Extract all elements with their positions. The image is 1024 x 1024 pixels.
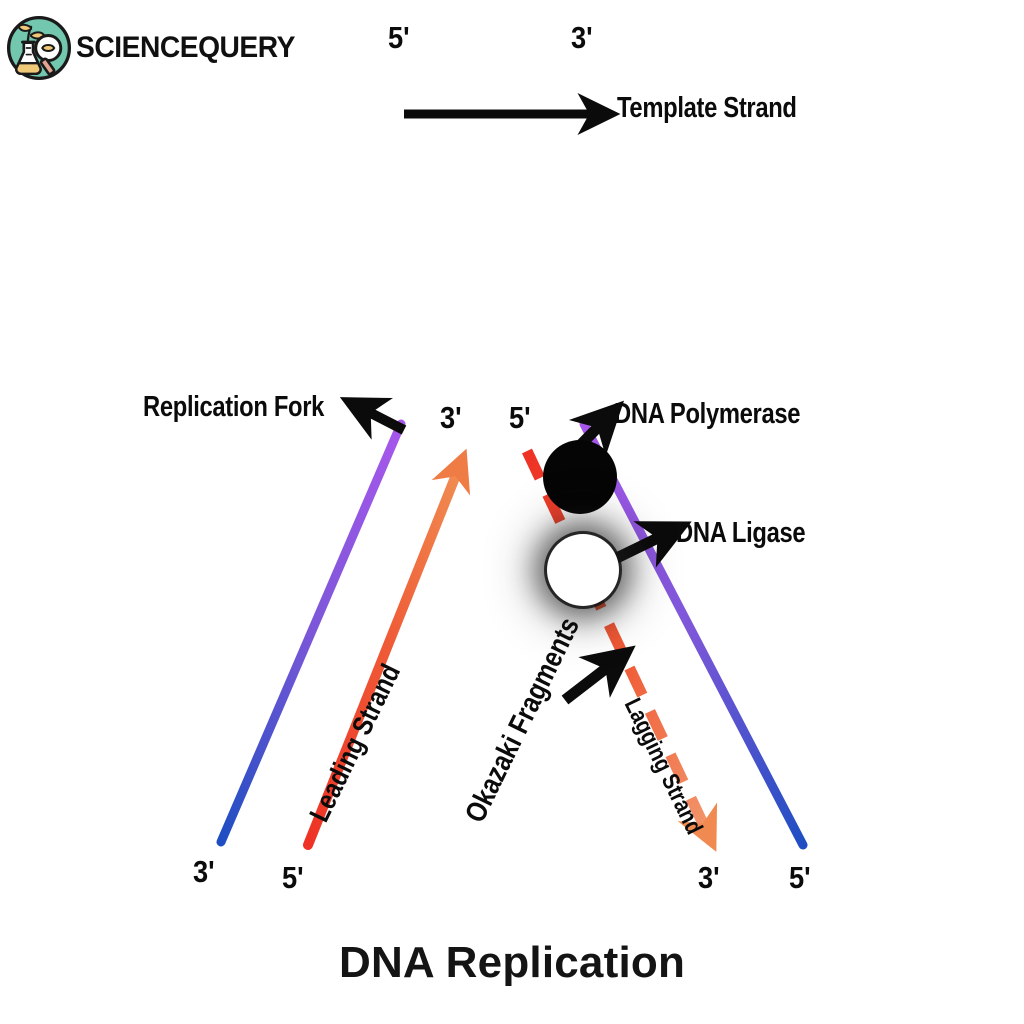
dna-ligase-circle bbox=[547, 534, 619, 606]
prime-label-bottom-left: 5' bbox=[282, 862, 304, 893]
prime-label-bottom-right: 3' bbox=[698, 862, 720, 893]
diagram-title: DNA Replication bbox=[0, 938, 1024, 988]
dna-polymerase-circle bbox=[543, 440, 617, 514]
fork-branch-left bbox=[221, 424, 401, 842]
dna-ligase-label: DNA Ligase bbox=[676, 519, 805, 548]
replication-fork-label: Replication Fork bbox=[143, 393, 324, 422]
okazaki-fragments-arrow bbox=[565, 663, 613, 700]
prime-label-bottom-far-left: 3' bbox=[193, 856, 215, 887]
strand-graphics-layer bbox=[0, 0, 1024, 1024]
prime-label-top-left: 5' bbox=[388, 22, 410, 53]
prime-label-fork-left-inner: 3' bbox=[440, 402, 462, 433]
dna-polymerase-label: DNA Polymerase bbox=[614, 400, 800, 429]
prime-label-bottom-far-right: 5' bbox=[789, 862, 811, 893]
template-strand-label: Template Strand bbox=[617, 94, 797, 123]
prime-label-fork-right-inner: 5' bbox=[509, 402, 531, 433]
prime-label-top-right: 3' bbox=[571, 22, 593, 53]
dna-replication-diagram: SCIENCEQUERY bbox=[0, 0, 1024, 1024]
